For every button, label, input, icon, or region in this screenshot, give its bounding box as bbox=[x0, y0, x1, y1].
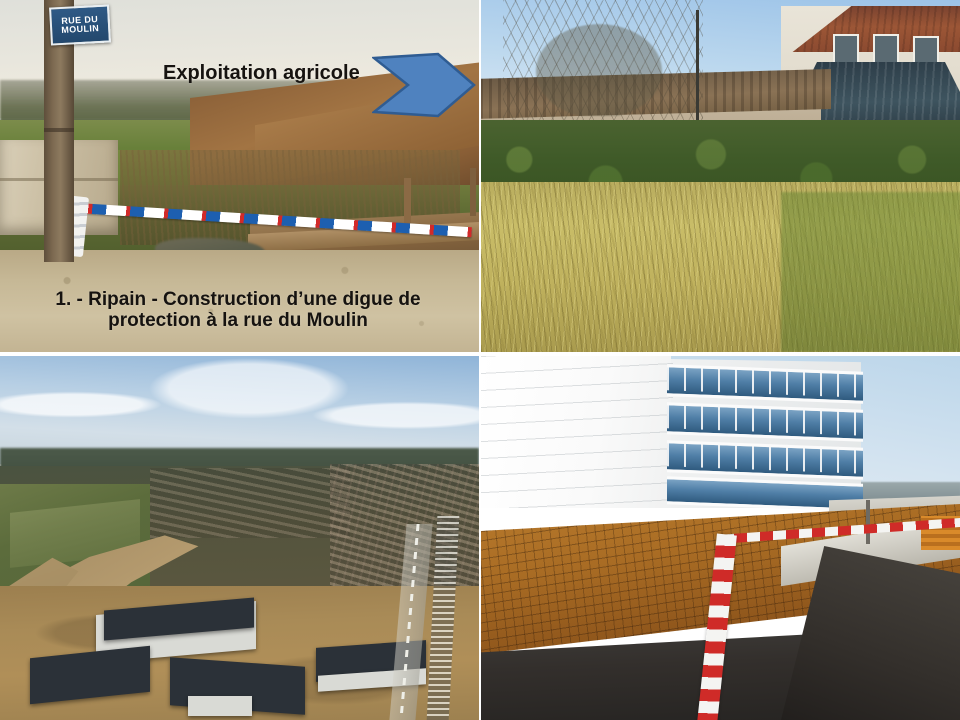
town-rooftops-far bbox=[150, 468, 350, 538]
photo-panel-2[interactable]: Digue de protection 2.Digue de protectio… bbox=[481, 0, 960, 352]
facade-cladding-lines bbox=[481, 356, 673, 508]
window-c bbox=[913, 36, 939, 66]
label-exploitation-agricole: Exploitation agricole bbox=[163, 62, 360, 84]
utility-pole-seam bbox=[44, 128, 74, 132]
caption-panel-1: 1. - Ripain - Construction d’une digue d… bbox=[22, 289, 454, 332]
street-sign-line-2: MOULIN bbox=[61, 24, 99, 35]
bare-branches bbox=[503, 0, 703, 120]
photo-panel-1[interactable]: RUE DU MOULIN Exploitation agricole 1. -… bbox=[0, 0, 479, 352]
photo-2-pont-dophain-digue bbox=[481, 0, 960, 352]
building-white-small bbox=[188, 696, 252, 716]
photo-panel-4[interactable]: Etablissement Van Mieghem 4.Construction… bbox=[481, 356, 960, 720]
green-grass-patch bbox=[781, 192, 960, 352]
slide-canvas: RUE DU MOULIN Exploitation agricole 1. -… bbox=[0, 0, 960, 720]
chevron-right-arrow bbox=[372, 52, 476, 118]
site-post bbox=[866, 500, 870, 544]
window-a bbox=[833, 34, 859, 64]
window-b bbox=[873, 34, 899, 64]
photo-4-dalle-beton-fabelta bbox=[481, 356, 960, 720]
photo-panel-3[interactable]: Etablissement Van Mieghem 3.Zoning Fabel… bbox=[0, 356, 479, 720]
photo-3-zoning-fabelta-inondations bbox=[0, 356, 479, 720]
wooden-post-b bbox=[470, 168, 476, 216]
street-sign-rue-du-moulin: RUE DU MOULIN bbox=[49, 4, 111, 45]
thin-pole bbox=[696, 10, 699, 130]
